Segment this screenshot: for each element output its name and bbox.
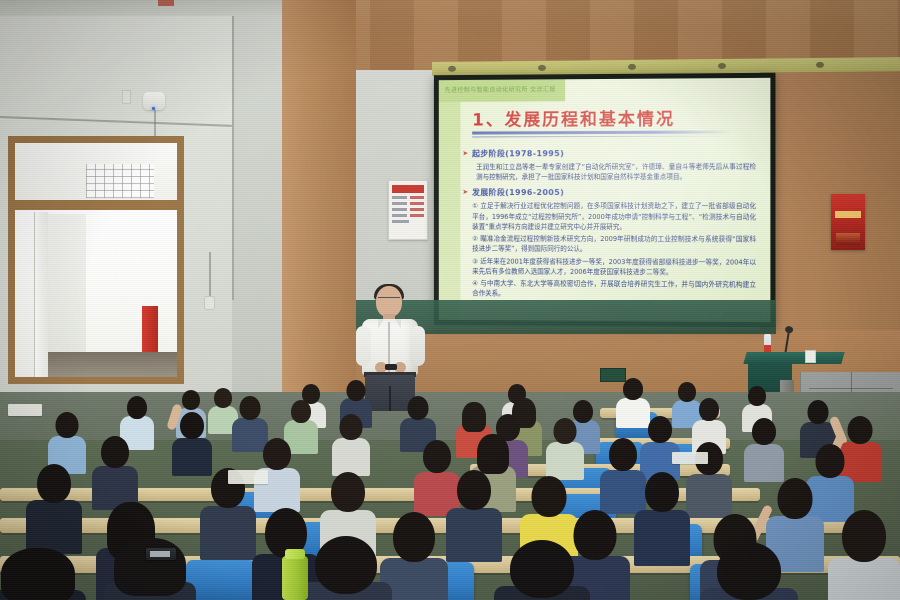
- person-head: [423, 440, 451, 473]
- person-head: [510, 540, 574, 598]
- person-head: [554, 418, 577, 444]
- wood-column: [282, 0, 356, 392]
- audience-person: [828, 510, 900, 600]
- person-head: [331, 472, 365, 512]
- slide-title: 1、发展历程和基本情况: [472, 104, 752, 130]
- person-head: [609, 438, 637, 471]
- audience-person: [300, 536, 392, 600]
- person-head: [127, 396, 147, 419]
- wall-seam: [232, 0, 234, 300]
- person-body: [26, 500, 82, 554]
- audience-person: [48, 412, 86, 472]
- audience-person: [546, 418, 584, 478]
- person-head: [717, 542, 781, 600]
- person-head: [648, 416, 672, 443]
- person-head: [180, 412, 204, 439]
- person-head: [778, 478, 813, 519]
- person-body: [332, 438, 370, 476]
- person-hair-long: [114, 538, 186, 596]
- audience-person: [26, 464, 82, 550]
- presenter-collar-right: [395, 319, 401, 329]
- audience-person: [92, 436, 138, 506]
- corridor-window-grille: [86, 164, 154, 198]
- mobile-phone[interactable]: [146, 548, 176, 560]
- person-head: [748, 386, 766, 406]
- slide-list-item: ④ 与中南大学、东北大学等高校密切合作，开展联合培养研究生工作，并与国内外研究机…: [462, 278, 756, 300]
- red-wall-poster: [831, 194, 865, 250]
- conduit-drop: [154, 110, 156, 136]
- slide-list-item: ③ 近年来在2001年度获得省科技进步一等奖，2003年度获得省部级科技进步一等…: [462, 256, 756, 278]
- audience-person: [494, 540, 590, 600]
- slide-left-band: [439, 80, 461, 320]
- person-head: [37, 464, 71, 503]
- person-hair-long: [477, 434, 509, 474]
- person-head: [291, 400, 311, 423]
- person-head: [848, 416, 873, 444]
- audience-person: [640, 416, 680, 478]
- audience-person: [744, 418, 784, 480]
- person-head: [347, 380, 366, 401]
- slide-title-rule-secondary: [472, 136, 732, 138]
- presenter-glasses: [378, 297, 400, 302]
- audience: [0, 360, 900, 600]
- slide-list-item: ② 瞄准冶金流程过程控制新技术研究方向，2009年研制成功的工业控制技术与系统获…: [462, 234, 756, 255]
- person-body: [200, 506, 256, 560]
- person-head: [842, 510, 886, 562]
- paper-sheet: [228, 470, 268, 484]
- cable-junction-box: [204, 296, 215, 310]
- person-body: [744, 444, 784, 482]
- person-head: [816, 444, 845, 478]
- person-body: [634, 510, 690, 566]
- slide-header-tab: 先进控制与智能自动化研究所 交流汇报: [439, 79, 565, 102]
- person-head: [808, 400, 829, 424]
- person-head: [623, 378, 643, 400]
- slide-body: ➤ 起步阶段(1978-1995) 王润生和江立昌等老一辈专家创建了“自动化所研…: [462, 142, 756, 303]
- bullet-arrow-icon: ➤: [462, 190, 468, 197]
- audience-person: [0, 548, 86, 600]
- person-body: [546, 442, 584, 480]
- lecture-hall-photo: 先进控制与智能自动化研究所 交流汇报 1、发展历程和基本情况 ➤ 起步阶段(19…: [0, 0, 900, 600]
- person-head: [340, 414, 363, 440]
- ap-bracket: [122, 90, 131, 104]
- bullet-arrow-icon: ➤: [462, 150, 468, 157]
- audience-person: [332, 414, 370, 474]
- open-doorway[interactable]: [15, 210, 177, 377]
- person-head: [56, 412, 79, 438]
- doorway-frame: [8, 136, 184, 384]
- wood-panel-right: [760, 62, 900, 362]
- slide-title-rule: [472, 130, 732, 134]
- paper-sheet: [672, 452, 708, 464]
- fire-extinguisher-box: [142, 306, 158, 358]
- person-head: [393, 512, 435, 562]
- person-body: [686, 474, 732, 518]
- person-head: [240, 396, 261, 420]
- presentation-slide: 先进控制与智能自动化研究所 交流汇报 1、发展历程和基本情况 ➤ 起步阶段(19…: [439, 78, 771, 322]
- audience-person: [700, 542, 798, 600]
- slide-header-text: 先进控制与智能自动化研究所 交流汇报: [439, 79, 565, 94]
- paper-sheet: [8, 404, 42, 416]
- person-hair-long: [462, 402, 486, 432]
- slide-paragraph-1: 王润生和江立昌等老一辈专家创建了“自动化所研究室”，许德璋、童自斗等老师先后从事…: [462, 162, 756, 183]
- person-head: [263, 438, 291, 470]
- notice-header-band: [392, 185, 424, 193]
- person-hair-long: [1, 548, 75, 600]
- person-head: [101, 436, 129, 468]
- person-head: [752, 418, 776, 445]
- person-head: [315, 536, 377, 594]
- slide-list-item: ① 立足于解决行业过程优化控制问题，在多项国家科技计划资助之下，建立了一批省部级…: [462, 201, 756, 232]
- door-leaf[interactable]: [34, 212, 48, 377]
- person-head: [645, 472, 679, 512]
- hanging-cable: [209, 252, 211, 298]
- person-head: [408, 396, 429, 420]
- ceiling-red-mark: [158, 0, 174, 6]
- person-head: [457, 470, 491, 510]
- person-head: [699, 398, 719, 421]
- seat: [186, 560, 256, 600]
- audience-person: [634, 472, 690, 562]
- wall-notice-sign: [388, 180, 428, 240]
- audience-person: [172, 412, 212, 474]
- door-transom-bar: [8, 200, 184, 210]
- person-body: [828, 558, 900, 600]
- person-head: [214, 388, 232, 408]
- person-head: [182, 390, 200, 410]
- slide-section-heading-1: ➤ 起步阶段(1978-1995): [462, 148, 756, 160]
- presenter-collar-left: [378, 319, 384, 329]
- water-bottle: [282, 556, 308, 600]
- slide-section-heading-2: ➤ 发展阶段(1996-2005): [462, 187, 756, 198]
- projection-screen: 先进控制与智能自动化研究所 交流汇报 1、发展历程和基本情况 ➤ 起步阶段(19…: [434, 73, 776, 328]
